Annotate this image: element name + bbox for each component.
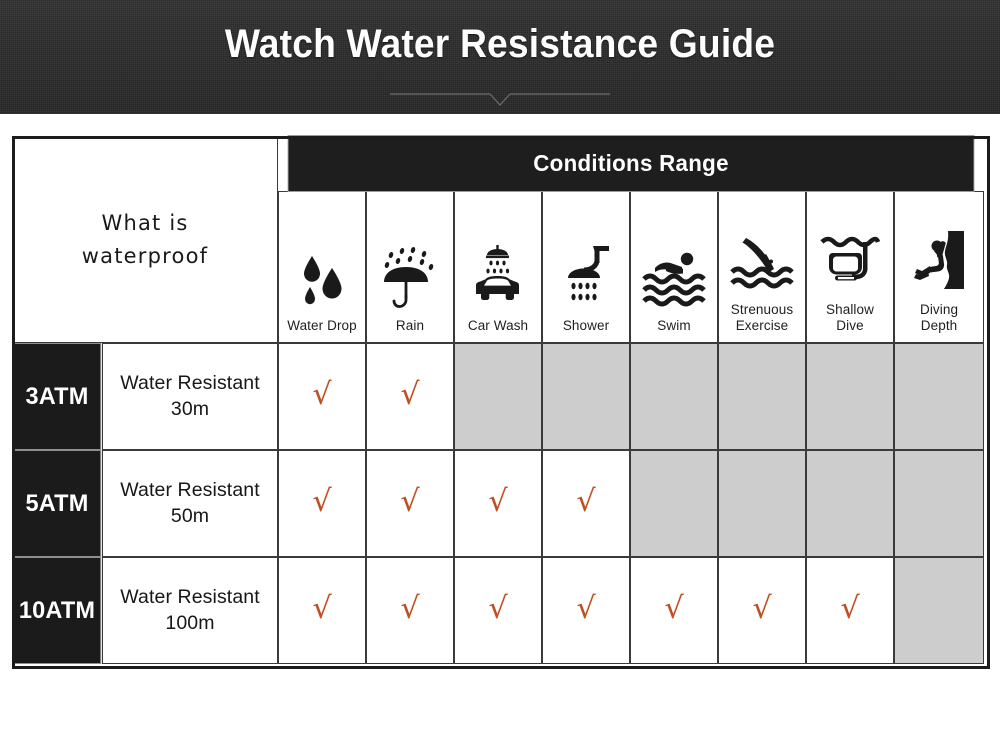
- snorkel-mask-icon: [809, 226, 891, 298]
- cell-strenuous_exercise-unsupported: [718, 343, 806, 450]
- cell-diving_depth-unsupported: [894, 557, 984, 664]
- check-mark-icon: √: [488, 487, 507, 517]
- conditions-range-header: Conditions Range: [289, 136, 974, 191]
- column-label-strenuous-exercise: Strenuous Exercise: [731, 302, 793, 334]
- check-mark-icon: √: [400, 380, 419, 410]
- resistance-description: Water Resistant30m: [102, 343, 278, 450]
- column-label-water-drop: Water Drop: [287, 318, 357, 334]
- column-header-strenuous-exercise: Strenuous Exercise: [718, 191, 806, 343]
- column-label-rain: Rain: [396, 318, 424, 334]
- column-label-strenuous-line1: Strenuous: [731, 302, 793, 317]
- cell-water_drop-supported: √: [278, 343, 366, 450]
- atm-badge: 10ATM: [13, 557, 101, 664]
- column-label-shallow-dive: Shallow Dive: [826, 302, 874, 334]
- resistance-description: Water Resistant50m: [102, 450, 278, 557]
- cell-shower-supported: √: [542, 557, 630, 664]
- check-mark-icon: √: [312, 487, 331, 517]
- atm-badge: 5ATM: [13, 450, 101, 557]
- swimmer-icon: [633, 242, 715, 314]
- column-label-shallow-line1: Shallow: [826, 302, 874, 317]
- table-row: 3ATMWater Resistant30m√√: [12, 343, 984, 450]
- column-label-shallow-line2: Dive: [836, 318, 863, 333]
- cell-swim-supported: √: [630, 557, 718, 664]
- column-header-diving-depth: Diving Depth: [894, 191, 984, 343]
- cell-shower-supported: √: [542, 450, 630, 557]
- check-mark-icon: √: [312, 380, 331, 410]
- column-header-shower: Shower: [542, 191, 630, 343]
- cell-car_wash-unsupported: [454, 343, 542, 450]
- column-label-swim: Swim: [657, 318, 690, 334]
- cell-rain-supported: √: [366, 557, 454, 664]
- column-header-swim: Swim: [630, 191, 718, 343]
- cell-strenuous_exercise-supported: √: [718, 557, 806, 664]
- check-mark-icon: √: [312, 594, 331, 624]
- cell-swim-unsupported: [630, 450, 718, 557]
- cell-rain-supported: √: [366, 450, 454, 557]
- check-mark-icon: √: [488, 594, 507, 624]
- umbrella-rain-icon: [369, 242, 451, 314]
- title-banner: Watch Water Resistance Guide: [0, 0, 1000, 114]
- check-mark-icon: √: [752, 594, 771, 624]
- cell-diving_depth-unsupported: [894, 343, 984, 450]
- column-header-water-drop: Water Drop: [278, 191, 366, 343]
- page-title: Watch Water Resistance Guide: [35, 22, 965, 67]
- resistance-description-line1: Water Resistant: [120, 372, 260, 394]
- resistance-description-line1: Water Resistant: [120, 586, 260, 608]
- column-header-shallow-dive: Shallow Dive: [806, 191, 894, 343]
- chevron-down-divider-icon: [390, 88, 610, 108]
- cell-water_drop-supported: √: [278, 557, 366, 664]
- column-label-shower: Shower: [563, 318, 609, 334]
- cell-shower-unsupported: [542, 343, 630, 450]
- resistance-description-line2: 30m: [171, 398, 209, 420]
- column-header-car-wash: Car Wash: [454, 191, 542, 343]
- check-mark-icon: √: [400, 594, 419, 624]
- resistance-description-line2: 50m: [171, 505, 209, 527]
- shower-head-icon: [545, 242, 627, 314]
- table-header-row-conditions: What is waterproof Conditions Range: [12, 136, 984, 191]
- resistance-description-line2: 100m: [165, 612, 214, 634]
- check-mark-icon: √: [664, 594, 683, 624]
- cell-swim-unsupported: [630, 343, 718, 450]
- column-label-diving-line2: Depth: [921, 318, 958, 333]
- corner-label-line2: waterproof: [82, 244, 208, 268]
- column-label-strenuous-line2: Exercise: [736, 318, 789, 333]
- column-label-diving-line1: Diving: [920, 302, 958, 317]
- cell-car_wash-supported: √: [454, 557, 542, 664]
- cell-shallow_dive-supported: √: [806, 557, 894, 664]
- atm-badge: 3ATM: [13, 343, 101, 450]
- water-drop-icon: [281, 242, 363, 314]
- table-row: 5ATMWater Resistant50m√√√√: [12, 450, 984, 557]
- corner-label-line1: What is: [101, 211, 188, 235]
- scuba-diver-icon: [897, 226, 981, 298]
- page-root: Watch Water Resistance Guide What i: [0, 0, 1000, 743]
- cell-rain-supported: √: [366, 343, 454, 450]
- diver-jump-icon: [721, 226, 803, 298]
- check-mark-icon: √: [400, 487, 419, 517]
- table-row: 10ATMWater Resistant100m√√√√√√√: [12, 557, 984, 664]
- check-mark-icon: √: [576, 487, 595, 517]
- car-wash-icon: [457, 242, 539, 314]
- column-label-car-wash: Car Wash: [468, 318, 528, 334]
- cell-strenuous_exercise-unsupported: [718, 450, 806, 557]
- water-resistance-table: What is waterproof Conditions Range: [12, 136, 984, 664]
- check-mark-icon: √: [576, 594, 595, 624]
- column-label-diving-depth: Diving Depth: [920, 302, 958, 334]
- water-resistance-table-wrapper: What is waterproof Conditions Range: [12, 136, 984, 663]
- column-header-rain: Rain: [366, 191, 454, 343]
- cell-car_wash-supported: √: [454, 450, 542, 557]
- cell-shallow_dive-unsupported: [806, 450, 894, 557]
- check-mark-icon: √: [840, 594, 859, 624]
- corner-what-is-waterproof: What is waterproof: [12, 136, 278, 343]
- cell-diving_depth-unsupported: [894, 450, 984, 557]
- resistance-description-line1: Water Resistant: [120, 479, 260, 501]
- cell-water_drop-supported: √: [278, 450, 366, 557]
- cell-shallow_dive-unsupported: [806, 343, 894, 450]
- resistance-description: Water Resistant100m: [102, 557, 278, 664]
